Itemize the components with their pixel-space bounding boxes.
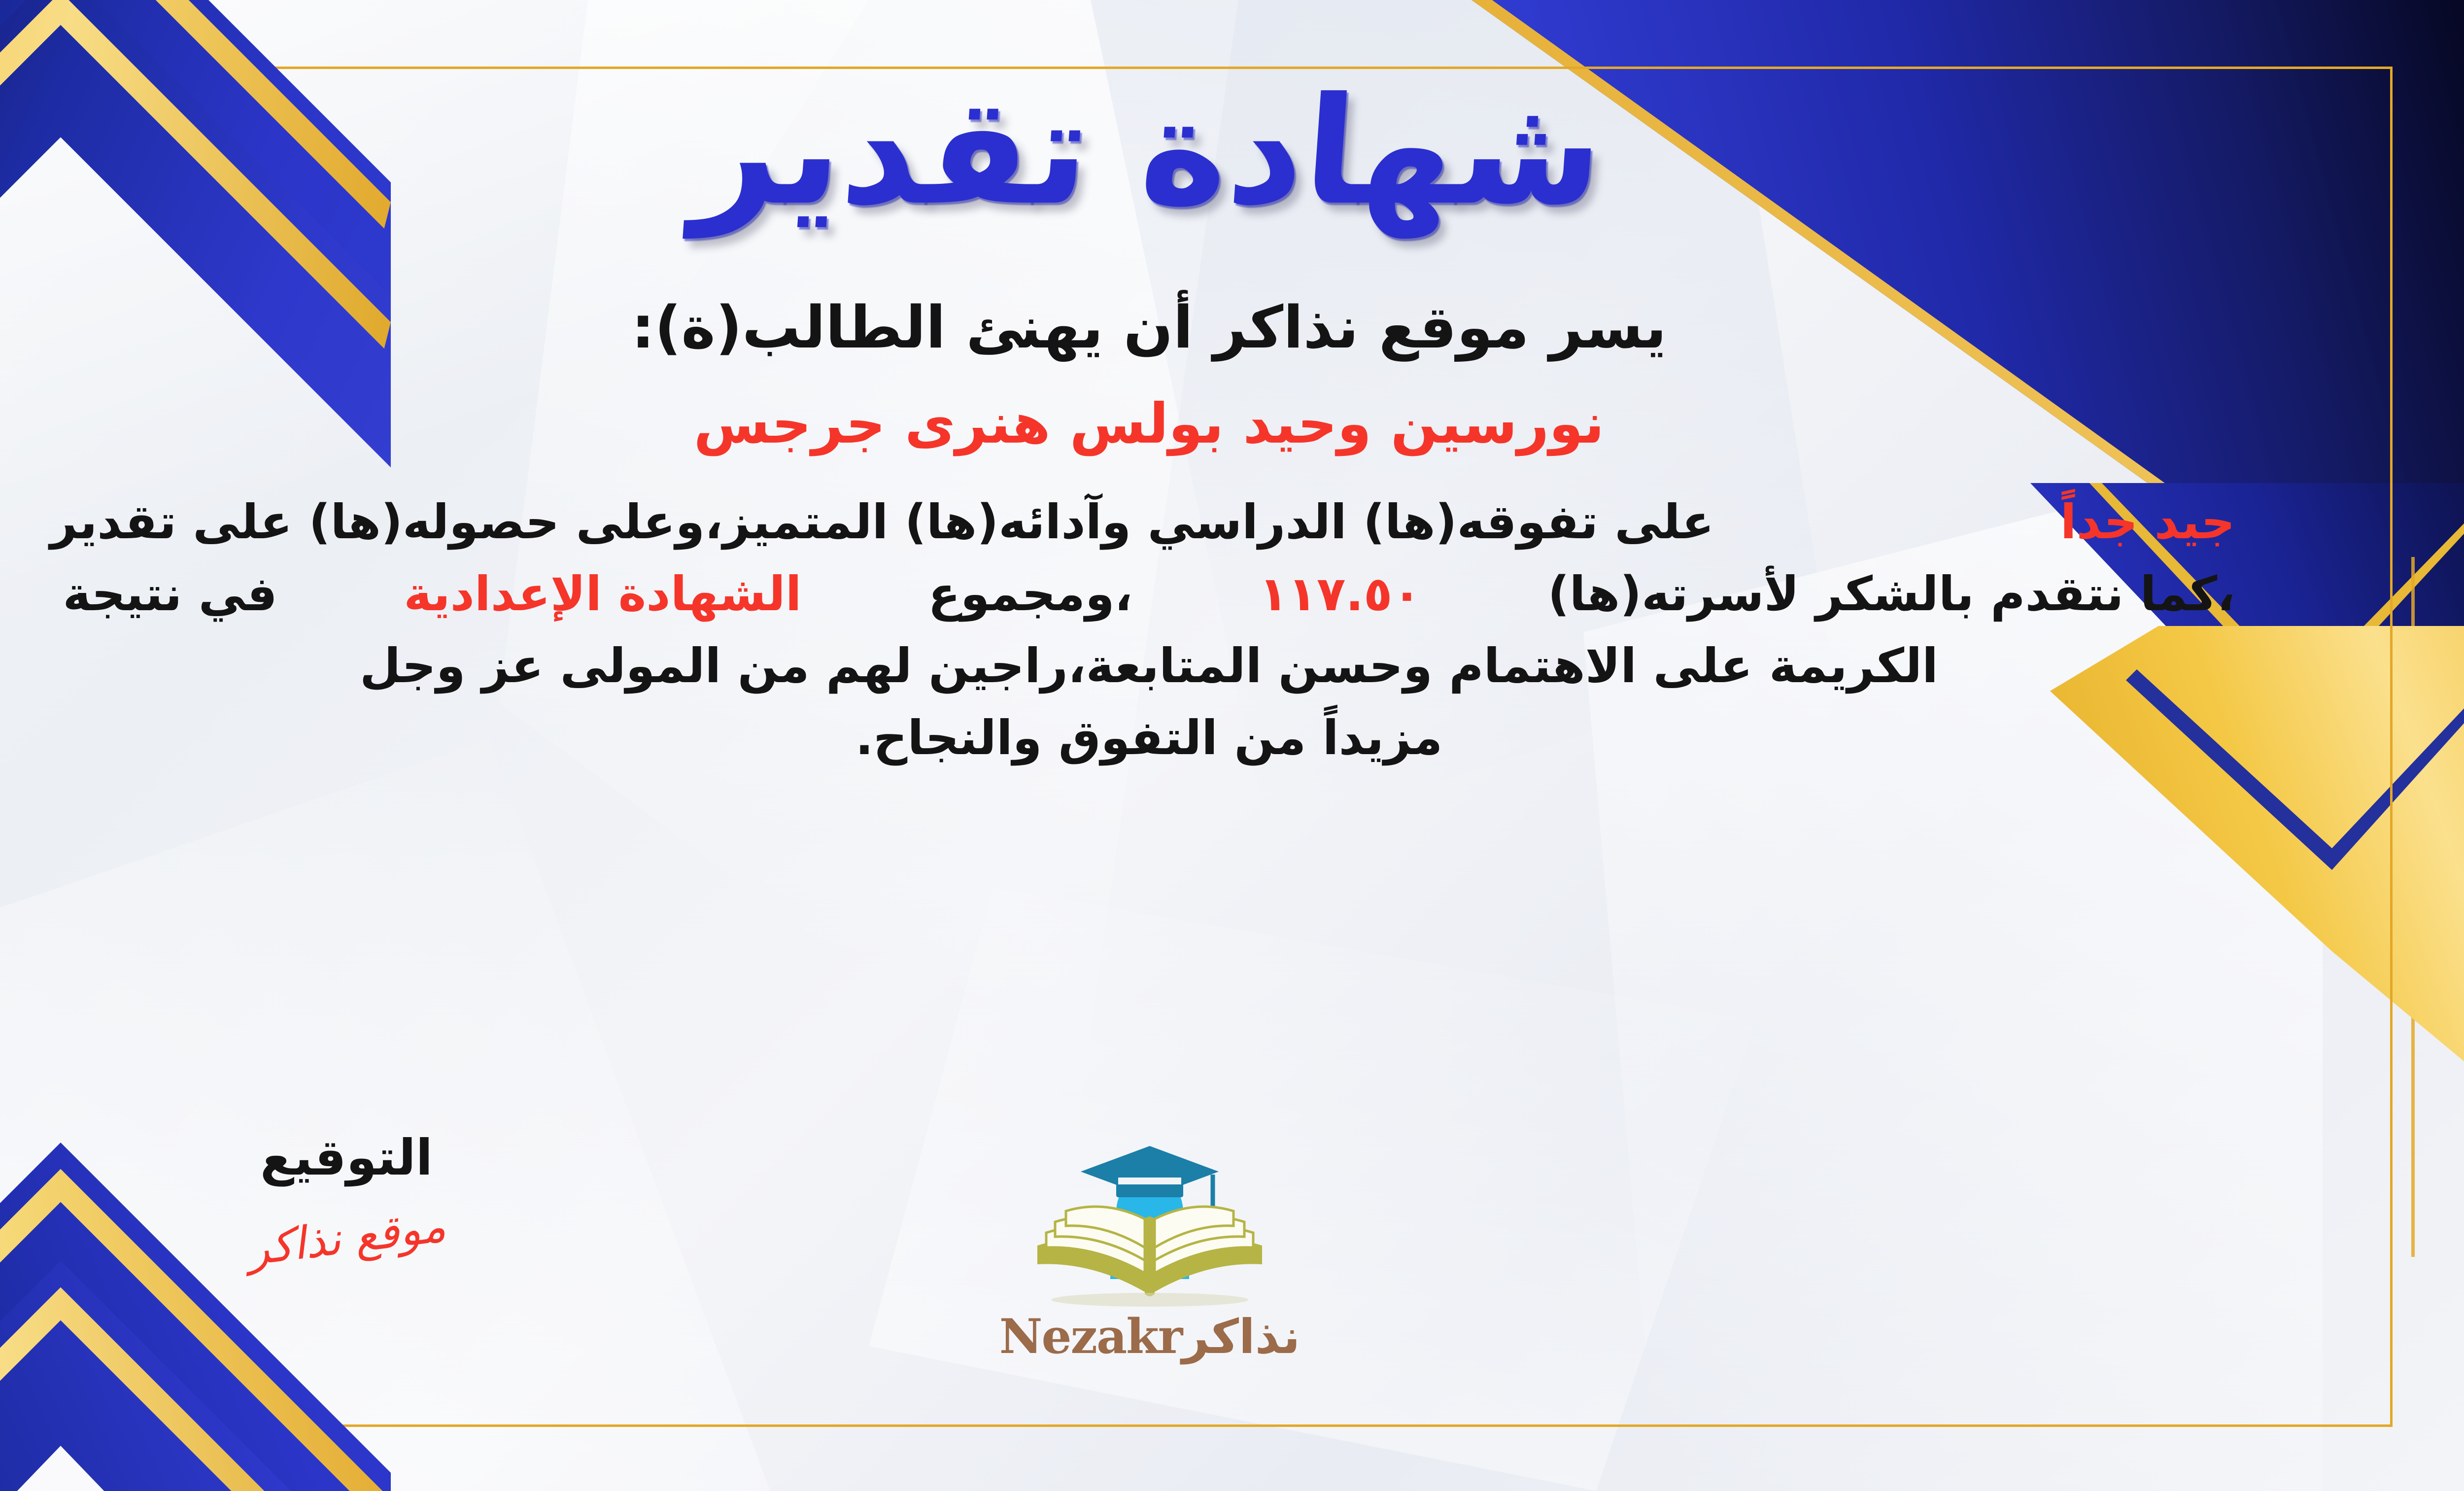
- logo-wordmark: نذاكرNezakr: [999, 1309, 1300, 1364]
- logo-latin: Nezakr: [999, 1309, 1182, 1364]
- signature-label: التوقيع: [189, 1129, 504, 1186]
- body-line-1: جيد جداً على تفوقه(ها) الدراسي وآدائه(ها…: [50, 486, 2248, 558]
- result-of-label: في نتيجة: [50, 558, 290, 630]
- site-logo: نذاكرNezakr: [972, 1116, 1327, 1364]
- student-name: نورسين وحيد بولس هنرى جرجس: [694, 392, 1605, 456]
- exam-name-value: الشهادة الإعدادية: [391, 558, 814, 630]
- family-thanks-text: ،كما نتقدم بالشكر لأسرته(ها): [1535, 558, 2248, 630]
- certificate-title: شهادة تقدير: [689, 74, 1608, 229]
- graduate-book-logo-icon: [1012, 1116, 1288, 1314]
- total-score-value: ١١٧.٥٠: [1246, 558, 1434, 630]
- total-label: ،ومجموع: [915, 558, 1145, 630]
- signature-block: التوقيع موقع نذاكر: [189, 1129, 504, 1264]
- body-line-1-text: على تفوقه(ها) الدراسي وآدائه(ها) المتميز…: [50, 486, 1714, 558]
- certificate-canvas: شهادة تقدير يسر موقع نذاكر أن يهنئ الطال…: [0, 0, 2464, 1491]
- grade-value: جيد جداً: [2048, 486, 2248, 558]
- body-line-3: الكريمة على الاهتمام وحسن المتابعة،راجين…: [50, 630, 2248, 702]
- body-line-4: مزيداً من التفوق والنجاح.: [50, 702, 2248, 774]
- logo-arabic: نذاكر: [1182, 1309, 1300, 1364]
- body-line-2: ،كما نتقدم بالشكر لأسرته(ها) ١١٧.٥٠ ،ومج…: [50, 558, 2248, 630]
- certificate-body: جيد جداً على تفوقه(ها) الدراسي وآدائه(ها…: [50, 486, 2248, 774]
- greeting-line: يسر موقع نذاكر أن يهنئ الطالب(ة):: [631, 293, 1667, 361]
